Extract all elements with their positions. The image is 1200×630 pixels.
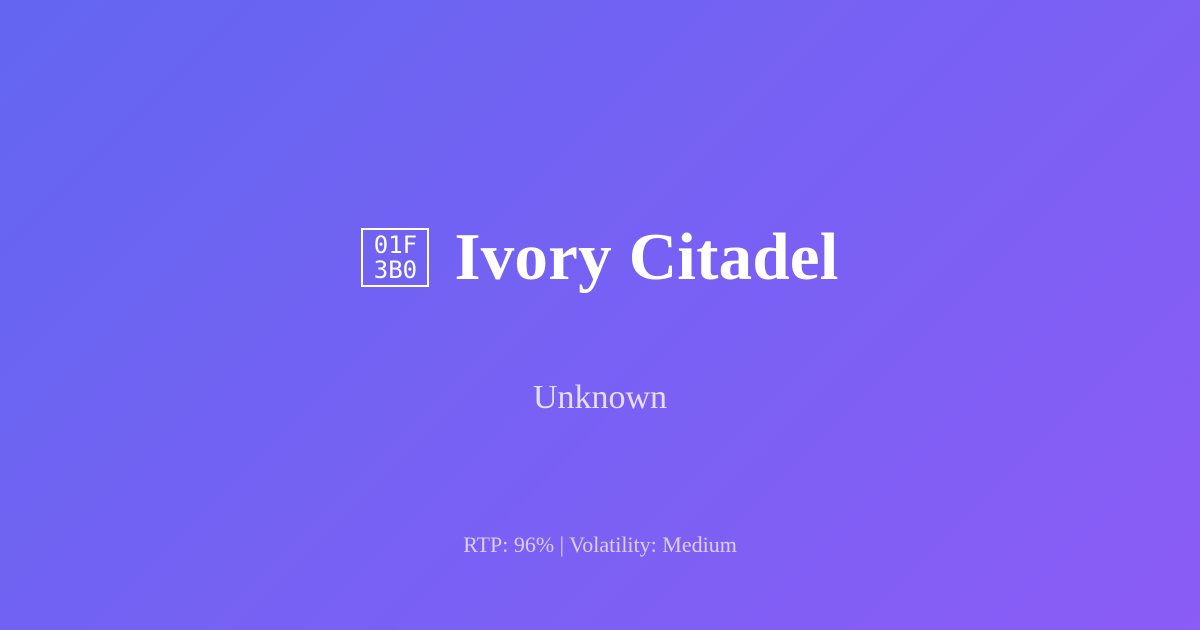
- tofu-codepoint-bottom: 3B0: [374, 258, 417, 283]
- page-title: Ivory Citadel: [454, 222, 838, 293]
- game-stats-line: RTP: 96% | Volatility: Medium: [0, 532, 1200, 558]
- og-preview-card: 01F 3B0 Ivory Citadel Unknown RTP: 96% |…: [0, 0, 1200, 630]
- page-subtitle: Unknown: [533, 378, 667, 419]
- hero-block: 01F 3B0 Ivory Citadel Unknown: [0, 177, 1200, 419]
- slot-machine-emoji-tofu-icon: 01F 3B0: [361, 228, 429, 287]
- tofu-codepoint-top: 01F: [374, 233, 417, 258]
- title-row: 01F 3B0 Ivory Citadel: [361, 177, 838, 338]
